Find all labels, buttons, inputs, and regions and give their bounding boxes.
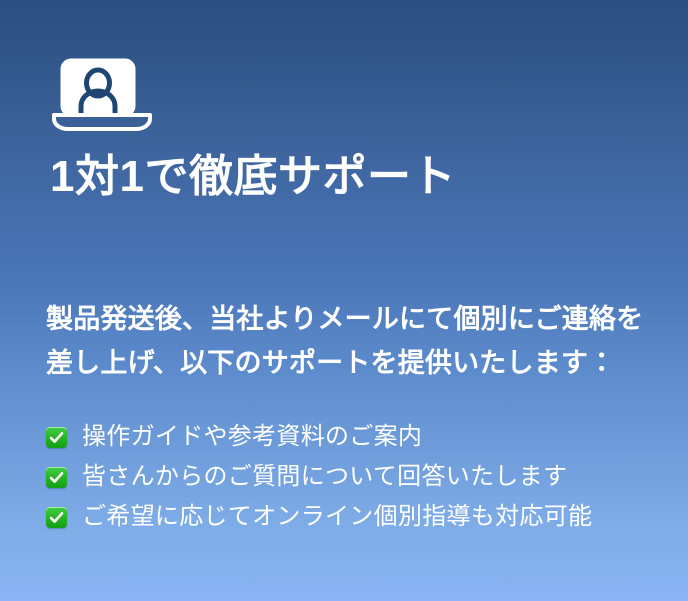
list-item: 皆さんからのご質問について回答いたします [46,457,666,497]
laptop-person-icon-graphic [50,56,154,140]
check-mark-button-icon [46,507,67,528]
list-item-label: 皆さんからのご質問について回答いたします [82,462,567,492]
list-item: 操作ガイドや参考資料のご案内 [46,417,666,457]
slide-headline: 1対1で徹底サポート [50,150,456,204]
list-item: ご希望に応じてオンライン個別指導も対応可能 [46,497,666,537]
slide-lead-paragraph: 製品発送後、当社よりメールにて個別にご連絡を差し上げ、以下のサポートを提供いたし… [46,297,658,385]
list-item-label: ご希望に応じてオンライン個別指導も対応可能 [82,502,592,532]
support-checklist: 操作ガイドや参考資料のご案内 皆さんからのご質問について回答いたします ご希望に… [46,417,666,537]
check-mark-button-icon [46,467,67,488]
check-mark-button-icon [46,427,67,448]
laptop-person-icon [50,56,154,140]
support-promo-slide: 1対1で徹底サポート 製品発送後、当社よりメールにて個別にご連絡を差し上げ、以下… [0,0,688,601]
list-item-label: 操作ガイドや参考資料のご案内 [82,422,422,452]
